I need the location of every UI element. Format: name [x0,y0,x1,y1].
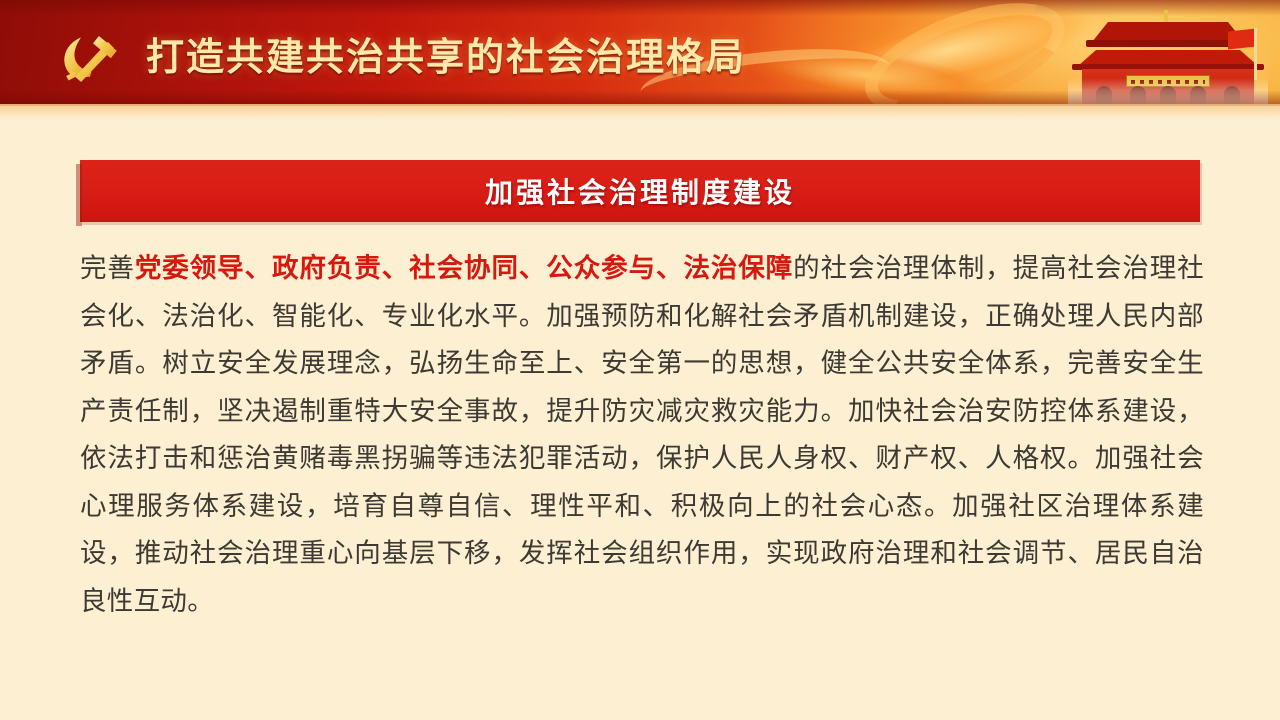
body-content: 完善党委领导、政府负责、社会协同、公众参与、法治保障的社会治理体制，提高社会治理… [80,245,1204,625]
header-bottom-shade [0,90,1280,104]
slide-root: 打造共建共治共享的社会治理格局 加强社会治理制度建设 完善党委领导、政府负责、社… [0,0,1280,720]
header-banner: 打造共建共治共享的社会治理格局 [0,0,1280,104]
gate-upper-eave [1086,40,1250,47]
party-emblem-hammer-sickle-icon [52,30,128,82]
red-flag-icon [1228,29,1256,50]
gate-upper-roof [1092,22,1244,42]
body-segment-plain-2: 的社会治理体制，提高社会治理社会化、法治化、智能化、专业化水平。加强预防和化解社… [80,253,1204,616]
body-segment-plain-1: 完善 [80,253,135,283]
body-paragraph: 完善党委领导、政府负责、社会协同、公众参与、法治保障的社会治理体制，提高社会治理… [80,245,1204,625]
section-title-text: 加强社会治理制度建设 [485,171,795,211]
section-title-bar: 加强社会治理制度建设 [80,160,1200,222]
header-divider [0,104,1280,122]
body-segment-highlight: 党委领导、政府负责、社会协同、公众参与、法治保障 [135,253,793,283]
flagpole [1254,28,1257,80]
header-title: 打造共建共治共享的社会治理格局 [146,26,746,81]
